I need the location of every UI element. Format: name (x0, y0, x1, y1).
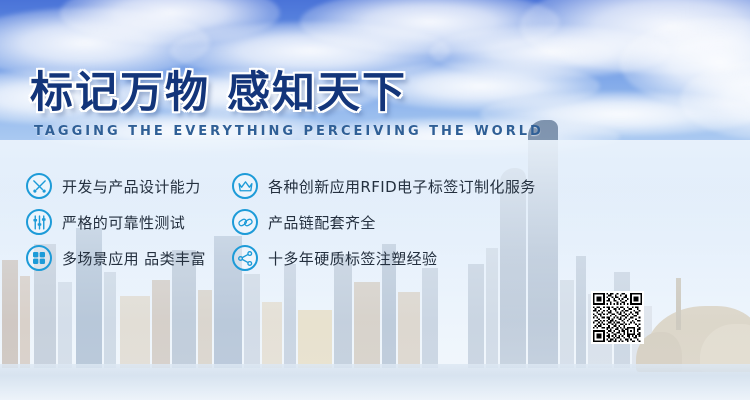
feature-item-development: 开发与产品设计能力 (26, 168, 236, 204)
feature-label: 开发与产品设计能力 (62, 176, 201, 197)
feature-item-experience: 十多年硬质标签注塑经验 (232, 240, 582, 276)
chain-link-icon (232, 209, 258, 235)
feature-item-reliability-test: 严格的可靠性测试 (26, 204, 236, 240)
feature-label: 十多年硬质标签注塑经验 (268, 248, 437, 269)
page-title: 标记万物 感知天下 (30, 72, 544, 115)
feature-label: 严格的可靠性测试 (62, 212, 185, 233)
feature-column-left: 开发与产品设计能力 严格的可靠性测试 (26, 168, 236, 276)
feature-item-applications: 多场景应用 品类丰富 (26, 240, 236, 276)
feature-column-right: 各种创新应用RFID电子标签订制化服务 产品链配套齐全 (232, 168, 582, 276)
feature-label: 各种创新应用RFID电子标签订制化服务 (268, 176, 536, 197)
grid-squares-icon (26, 245, 52, 271)
sliders-icon (26, 209, 52, 235)
feature-label: 产品链配套齐全 (268, 212, 376, 233)
headline-block: 标记万物 感知天下 TAGGING THE EVERYTHING PERCEIV… (30, 72, 544, 139)
feature-item-product-chain: 产品链配套齐全 (232, 204, 582, 240)
share-network-icon (232, 245, 258, 271)
water (0, 376, 750, 400)
waterfront-promenade (0, 364, 750, 378)
crossed-tools-icon (26, 173, 52, 199)
qr-code-image (593, 293, 642, 342)
feature-label: 多场景应用 品类丰富 (62, 248, 206, 269)
subtitle-english: TAGGING THE EVERYTHING PERCEIVING THE WO… (34, 124, 544, 139)
promo-banner: 标记万物 感知天下 TAGGING THE EVERYTHING PERCEIV… (0, 0, 750, 400)
feature-item-rfid-customization: 各种创新应用RFID电子标签订制化服务 (232, 168, 582, 204)
qr-code[interactable] (591, 291, 644, 344)
crown-icon (232, 173, 258, 199)
